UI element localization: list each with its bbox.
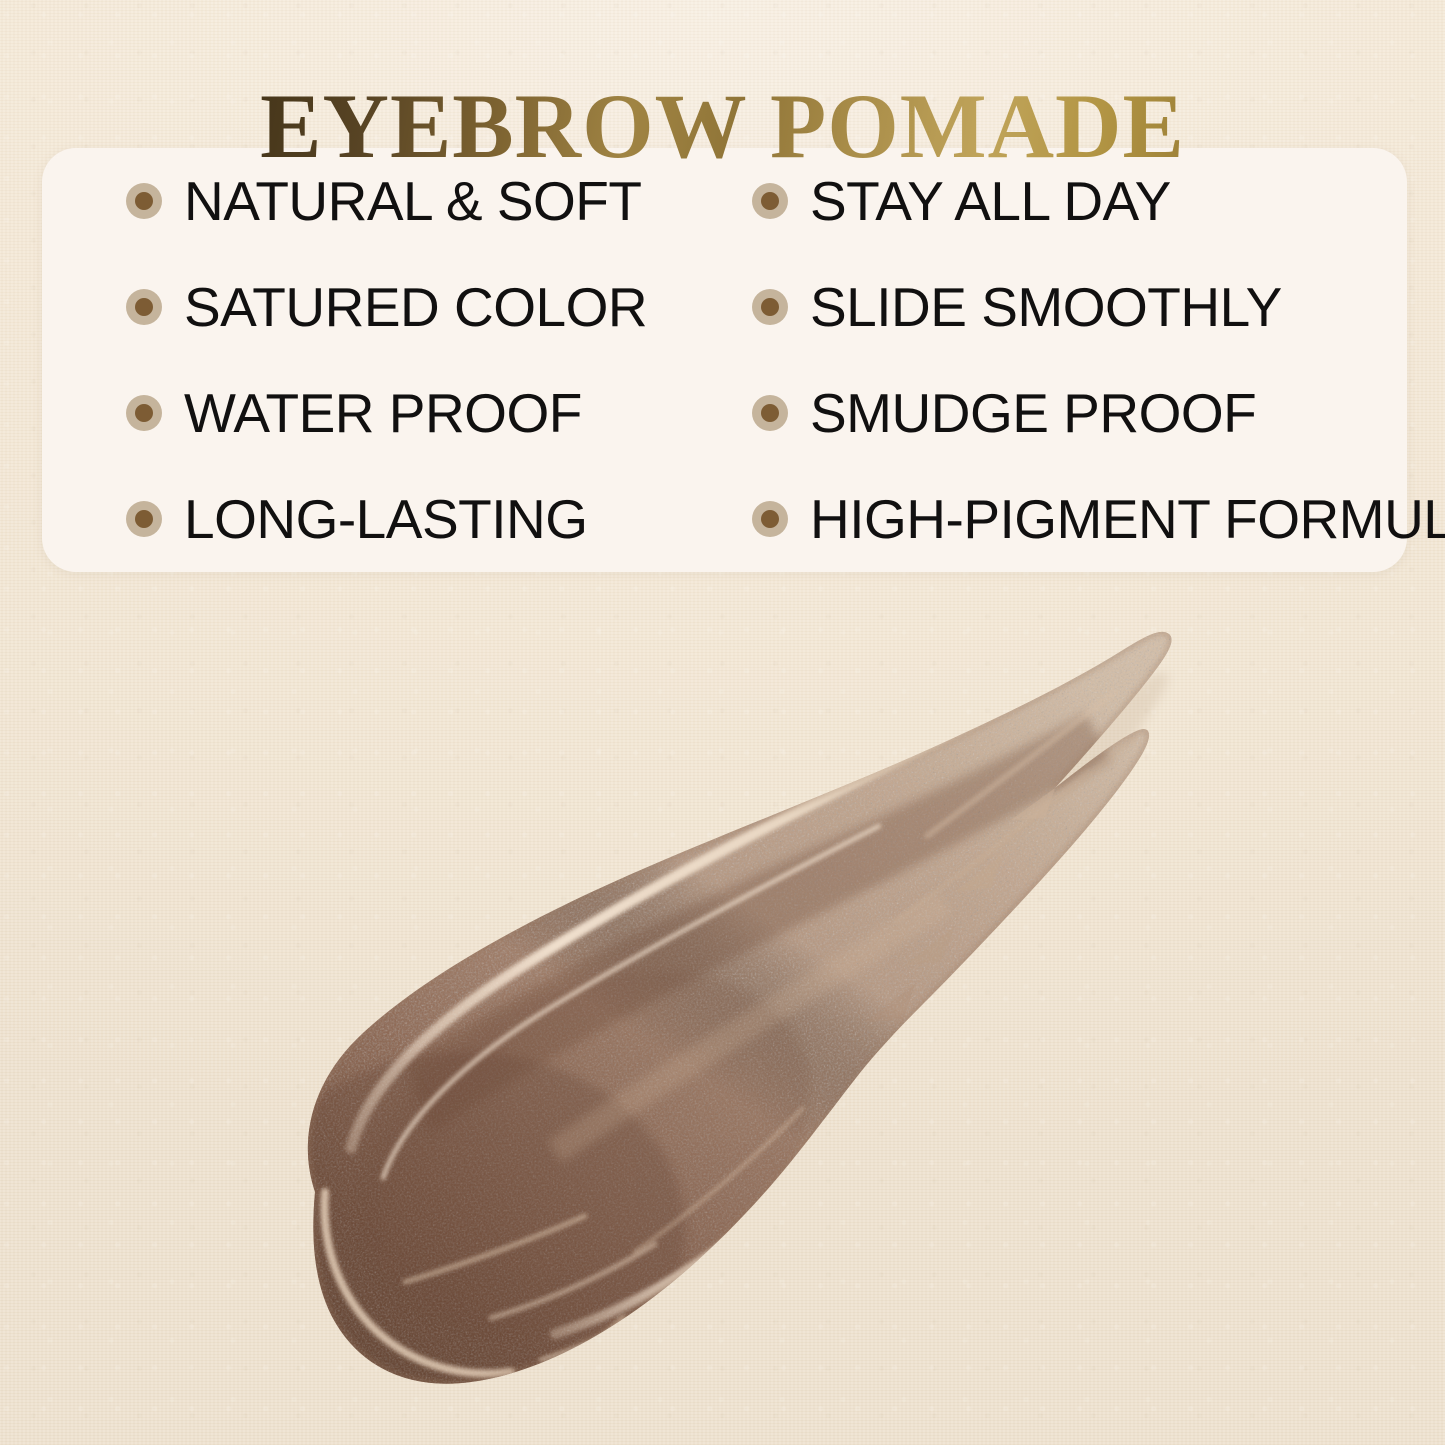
feature-label: WATER PROOF xyxy=(184,386,582,441)
feature-label: SLIDE SMOOTHLY xyxy=(810,280,1282,335)
page-title: EYEBROW POMADE xyxy=(260,80,1185,172)
title-container: EYEBROW POMADE xyxy=(0,18,1445,233)
bullet-dot-icon xyxy=(752,501,788,537)
bullet-dot-icon xyxy=(752,395,788,431)
swatch-area xyxy=(0,572,1445,1445)
feature-item-high-pigment-formula: HIGH-PIGMENT FORMULA xyxy=(718,492,1407,547)
feature-item-long-lasting: LONG-LASTING xyxy=(42,492,718,547)
bullet-dot-icon xyxy=(752,289,788,325)
product-feature-graphic: EYEBROW POMADE NATURAL & SOFT STAY ALL D… xyxy=(0,0,1445,1445)
feature-item-water-proof: WATER PROOF xyxy=(42,386,718,441)
bullet-dot-icon xyxy=(126,289,162,325)
feature-label: LONG-LASTING xyxy=(184,492,588,547)
feature-label: HIGH-PIGMENT FORMULA xyxy=(810,492,1445,547)
bullet-dot-icon xyxy=(126,395,162,431)
bullet-dot-icon xyxy=(126,501,162,537)
feature-item-slide-smoothly: SLIDE SMOOTHLY xyxy=(718,280,1407,335)
feature-item-smudge-proof: SMUDGE PROOF xyxy=(718,386,1407,441)
feature-item-satured-color: SATURED COLOR xyxy=(42,280,718,335)
feature-label: SATURED COLOR xyxy=(184,280,647,335)
pomade-smear-swatch xyxy=(255,592,1230,1422)
pomade-smear-illustration xyxy=(255,592,1230,1422)
feature-label: SMUDGE PROOF xyxy=(810,386,1256,441)
